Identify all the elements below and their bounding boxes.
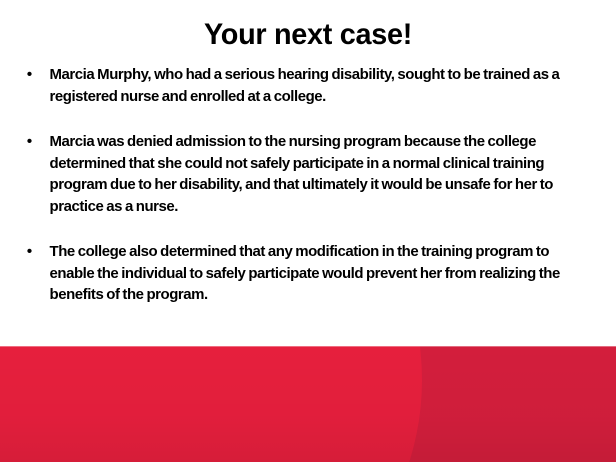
page-title: Your next case! xyxy=(12,18,603,52)
list-item: • The college also determined that any m… xyxy=(18,241,589,306)
bullet-point-icon: • xyxy=(27,64,32,86)
list-item: • Marcia Murphy, who had a serious heari… xyxy=(18,64,589,107)
list-item: • Marcia was denied admission to the nur… xyxy=(18,131,589,217)
list-item-text: The college also determined that any mod… xyxy=(50,241,590,306)
bullet-list: • Marcia Murphy, who had a serious heari… xyxy=(18,64,598,306)
bullet-point-icon: • xyxy=(27,131,32,153)
banner-shading-overlay xyxy=(0,346,616,462)
banner-top-edge xyxy=(0,346,616,347)
presentation-slide: Your next case! • Marcia Murphy, who had… xyxy=(0,0,616,462)
footer-decorative-banner xyxy=(0,346,616,462)
list-item-text: Marcia was denied admission to the nursi… xyxy=(50,131,590,217)
list-item-text: Marcia Murphy, who had a serious hearing… xyxy=(50,64,590,107)
bullet-point-icon: • xyxy=(27,241,32,263)
